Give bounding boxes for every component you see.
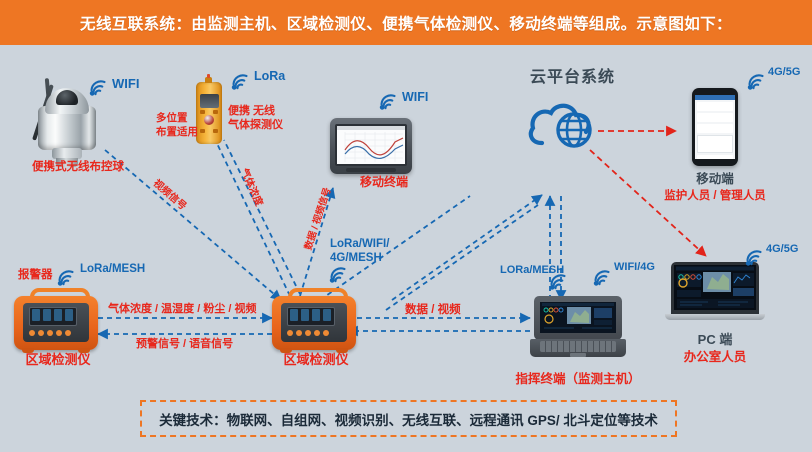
gas-detector-indicator	[207, 74, 210, 78]
label-cloud-platform: 云平台系统	[530, 68, 615, 88]
device-command-terminal[interactable]	[530, 296, 626, 362]
gas-detector-button-b1	[200, 129, 205, 133]
network-label-center-line1: LoRa/WIFI/	[330, 237, 389, 251]
detector-seg-l3	[54, 309, 62, 321]
sublabel-mobile-phone: 监护人员 / 管理人员	[650, 189, 780, 203]
detector-seg-l4	[65, 309, 73, 321]
link-label-video-signal: 视频信号	[150, 178, 188, 214]
link-label-gas-concentration: 气体浓度	[237, 167, 265, 209]
wifi-icon-pc	[744, 248, 766, 266]
key-technology-text: 关键技术：物联网、自组网、视频识别、无线互联、远程通讯 GPS/ 北斗定位等技术	[159, 409, 658, 429]
link-label-data-video: 数据 / 视频	[405, 303, 461, 317]
link-detector-to-cloud-b	[386, 205, 538, 310]
detector-knob-c1	[287, 330, 293, 336]
link-detector-to-gas-a	[212, 133, 290, 296]
label-region-detector-left: 区域检测仪	[8, 352, 108, 368]
link-detector-to-gas-b	[224, 140, 300, 294]
detector-seg-l1	[32, 309, 40, 321]
phone-app-header	[695, 95, 735, 100]
page-header: 无线互联系统：由监测主机、区域检测仪、便携气体检测仪、移动终端等组成。示意图如下…	[0, 0, 812, 45]
detector-seg-l2	[43, 309, 51, 321]
note-gas-detector-line1: 多位置	[156, 112, 188, 125]
gas-detector-button-b2	[213, 129, 218, 133]
wifi-icon-gas-detector	[230, 72, 252, 90]
label-pc-terminal: PC 端	[660, 332, 770, 348]
lora-label-gas-detector: LoRa	[254, 69, 285, 85]
label-gas-detector-line1: 便携 无线	[228, 105, 275, 119]
detector-knob-c5	[323, 330, 329, 336]
network-label-command-right: WIFI/4G	[614, 261, 655, 275]
wifi-icon-tablet	[378, 92, 400, 110]
tablet-screen	[337, 130, 405, 164]
phone-chart-panel	[697, 135, 733, 153]
link-detector-to-cloud-a	[392, 195, 542, 300]
detector-knob-l4	[56, 330, 62, 336]
gas-detector-knob	[204, 115, 214, 125]
detector-knob-c4	[314, 330, 320, 336]
wifi-icon-ptz-ball	[88, 78, 110, 96]
label-command-terminal: 指挥终端（监测主机）	[498, 372, 658, 388]
detector-knob-l1	[29, 330, 35, 336]
device-region-detector-center[interactable]	[272, 288, 356, 350]
wifi-icon-command-right	[592, 268, 614, 286]
command-terminal-screen	[540, 302, 616, 333]
camera-lens-icon	[56, 90, 78, 105]
laptop-base	[665, 314, 765, 320]
link-label-alert-voice: 预警信号 / 语音信号	[136, 338, 233, 352]
gas-detector-button-left	[200, 110, 205, 114]
wifi-label-ptz-ball: WIFI	[112, 76, 139, 92]
network-label-center-line2: 4G/MESH	[330, 251, 382, 265]
wifi-icon-region-detector-left	[56, 268, 78, 286]
detector-knob-row-center	[287, 330, 333, 337]
note-gas-detector-line2: 布置适用	[156, 126, 198, 139]
device-region-detector-left[interactable]	[14, 288, 98, 350]
detector-seg-c4	[323, 309, 331, 321]
command-terminal-keyboard[interactable]	[540, 341, 616, 352]
device-portable-gas-detector[interactable]	[196, 82, 224, 148]
wifi-icon-region-detector-center	[328, 265, 350, 283]
detector-knob-l3	[47, 330, 53, 336]
tablet-foot	[346, 168, 396, 172]
device-office-laptop[interactable]	[665, 262, 765, 326]
network-label-pc: 4G/5G	[766, 243, 798, 257]
label-mobile-tablet: 移动终端	[360, 175, 408, 190]
sublabel-pc-terminal: 办公室人员	[655, 350, 775, 366]
network-label-command-left: LORa/MESH	[500, 264, 564, 278]
phone-screen	[695, 95, 735, 159]
diagram-canvas: 无线互联系统：由监测主机、区域检测仪、便携气体检测仪、移动终端等组成。示意图如下…	[0, 0, 812, 452]
detector-knob-c2	[296, 330, 302, 336]
phone-tile-row-3	[697, 124, 733, 133]
label-mobile-phone: 移动端	[660, 172, 770, 188]
laptop-dashboard-screen	[674, 265, 756, 310]
detector-seg-c3	[312, 309, 320, 321]
device-ptz-camera-ball[interactable]	[20, 78, 130, 173]
page-title: 无线互联系统：由监测主机、区域检测仪、便携气体检测仪、移动终端等组成。示意图如下…	[80, 12, 732, 34]
network-label-region-detector-left: LoRa/MESH	[80, 262, 145, 276]
cloud-platform-icon[interactable]	[524, 95, 602, 151]
gas-detector-screen	[200, 94, 219, 108]
wifi-label-tablet: WIFI	[402, 90, 428, 106]
wifi-icon-phone	[746, 72, 768, 90]
detector-knob-row-left	[29, 330, 75, 337]
detector-knob-c3	[305, 330, 311, 336]
label-alarm-device: 报警器	[18, 268, 53, 282]
detector-knob-l5	[65, 330, 71, 336]
device-mobile-phone[interactable]	[692, 88, 738, 166]
label-ptz-camera-ball: 便携式无线布控球	[18, 160, 138, 174]
phone-tile-row-1	[697, 102, 733, 111]
detector-seg-c1	[290, 309, 298, 321]
command-terminal-touchpad[interactable]	[570, 353, 586, 357]
detector-seg-c2	[301, 309, 309, 321]
label-region-detector-center: 区域检测仪	[266, 352, 366, 368]
network-label-phone: 4G/5G	[768, 66, 800, 80]
key-technology-banner: 关键技术：物联网、自组网、视频识别、无线互联、远程通讯 GPS/ 北斗定位等技术	[140, 400, 677, 437]
detector-knob-l2	[38, 330, 44, 336]
phone-tile-row-2	[697, 113, 733, 122]
connection-layer	[0, 0, 812, 452]
link-label-gas-temp-dust-video: 气体浓度 / 温湿度 / 粉尘 / 视频	[108, 303, 257, 317]
phone-list-row	[697, 155, 733, 159]
label-gas-detector-line2: 气体探测仪	[228, 119, 283, 133]
gas-detector-button-right	[213, 110, 218, 114]
gas-detector-body	[196, 82, 222, 144]
device-rugged-tablet[interactable]	[330, 118, 412, 174]
